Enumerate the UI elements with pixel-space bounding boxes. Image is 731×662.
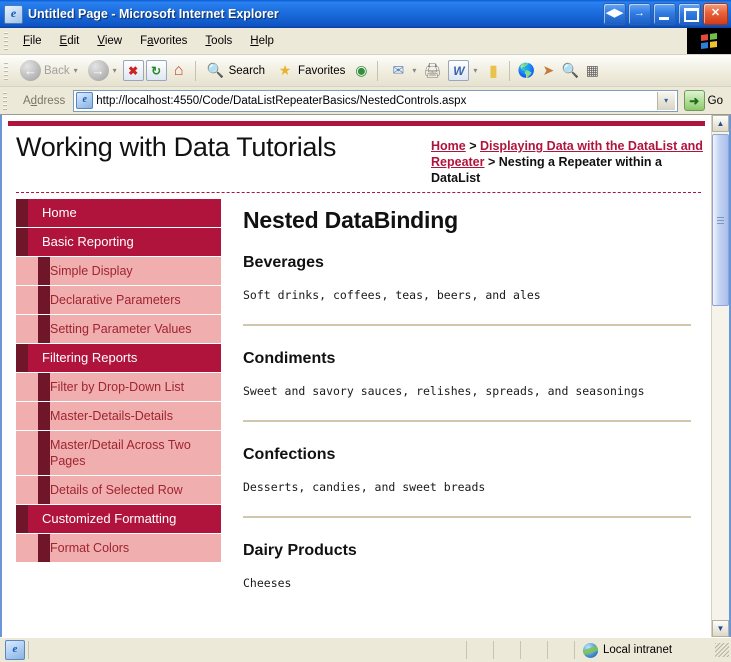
star-icon: ★ — [275, 61, 295, 81]
sidebar-label: Home — [42, 205, 77, 220]
minimize-group-icon: → — [629, 4, 650, 24]
sidebar-label: Declarative Parameters — [50, 293, 181, 307]
sidebar-label: Simple Display — [50, 264, 133, 278]
category-item: Dairy Products Cheeses — [243, 542, 691, 590]
forward-arrow-icon: → — [88, 60, 109, 81]
toolbar-grip-handle[interactable] — [4, 62, 8, 80]
mail-button[interactable]: ✉ ▾ — [384, 59, 420, 83]
status-page-icon: e — [5, 640, 25, 660]
maximize-button[interactable] — [678, 3, 701, 25]
category-item: Beverages Soft drinks, coffees, teas, be… — [243, 254, 691, 326]
sidebar-label: Customized Formatting — [42, 511, 176, 526]
breadcrumb-sep-2: > — [485, 155, 499, 169]
discuss-globe-icon[interactable]: 🌎 — [516, 61, 536, 81]
page-viewport: Working with Data Tutorials Home > Displ… — [0, 115, 731, 637]
forward-chevron-down-icon: ▾ — [113, 66, 117, 75]
search-button[interactable]: 🔍 Search — [202, 59, 269, 83]
sidebar-item-master-details-details[interactable]: Master-Details-Details — [16, 402, 221, 431]
refresh-icon[interactable]: ↻ — [146, 60, 167, 81]
menu-grip-handle[interactable] — [4, 32, 8, 50]
status-pane-3 — [520, 641, 547, 659]
menu-help[interactable]: Help — [241, 32, 283, 50]
windows-logo-icon — [687, 28, 731, 54]
category-description: Desserts, candies, and sweet breads — [243, 480, 691, 494]
scroll-up-button[interactable]: ▲ — [712, 115, 729, 132]
status-bar: e Local intranet — [0, 637, 731, 662]
print-icon[interactable]: 🖨 — [422, 61, 442, 81]
window-title: Untitled Page - Microsoft Internet Explo… — [28, 7, 603, 21]
sidebar-item-declarative-parameters[interactable]: Declarative Parameters — [16, 286, 221, 315]
notes-icon[interactable]: ▮ — [483, 61, 503, 81]
highlight-icon[interactable]: ▦ — [582, 61, 602, 81]
address-label: Address — [17, 95, 69, 107]
address-url-text: http://localhost:4550/Code/DataListRepea… — [96, 95, 653, 107]
category-name: Condiments — [243, 350, 691, 368]
mail-chevron-down-icon: ▾ — [412, 66, 416, 75]
go-arrow-icon: ➜ — [684, 90, 705, 111]
resize-grip[interactable] — [715, 643, 729, 657]
scroll-down-button[interactable]: ▼ — [712, 620, 729, 637]
sidebar-label: Master/Detail Across Two Pages — [50, 438, 191, 468]
page-icon: e — [76, 92, 93, 109]
sidebar-label: Basic Reporting — [42, 234, 134, 249]
close-icon: ✕ — [704, 4, 727, 24]
sidebar-label: Filtering Reports — [42, 350, 137, 365]
category-name: Confections — [243, 446, 691, 464]
back-chevron-down-icon: ▾ — [74, 66, 78, 75]
sidebar-label: Setting Parameter Values — [50, 322, 192, 336]
scrollbar-thumb[interactable] — [712, 134, 729, 306]
category-name: Beverages — [243, 254, 691, 272]
maximize-icon — [684, 8, 699, 22]
sidebar-item-details-of-selected-row[interactable]: Details of Selected Row — [16, 476, 221, 505]
address-bar: Address e http://localhost:4550/Code/Dat… — [0, 87, 731, 115]
search-icon: 🔍 — [206, 61, 226, 81]
edit-button[interactable]: W ▾ — [444, 58, 481, 83]
sidebar-item-format-colors[interactable]: Format Colors — [16, 534, 221, 563]
category-divider — [243, 324, 691, 326]
status-pane-1 — [466, 641, 493, 659]
sidebar-item-setting-parameter-values[interactable]: Setting Parameter Values — [16, 315, 221, 344]
sidebar-nav: Home Basic Reporting Simple Display Decl… — [2, 193, 221, 563]
category-item: Condiments Sweet and savory sauces, reli… — [243, 350, 691, 422]
ie-document-icon — [4, 5, 23, 24]
category-divider — [243, 420, 691, 422]
address-grip-handle[interactable] — [3, 92, 7, 110]
toolbar-separator-3 — [509, 61, 510, 81]
back-label: Back — [44, 65, 70, 77]
content-heading: Nested DataBinding — [243, 207, 691, 234]
toolbar-separator — [195, 61, 196, 81]
status-message — [28, 641, 466, 659]
word-editor-icon: W — [448, 60, 469, 81]
favorites-button[interactable]: ★ Favorites — [271, 59, 349, 83]
vertical-scrollbar[interactable]: ▲ ▼ — [711, 115, 729, 637]
close-button[interactable]: ✕ — [703, 3, 728, 25]
sidebar-item-customized-formatting[interactable]: Customized Formatting — [16, 505, 221, 534]
sidebar-label: Filter by Drop-Down List — [50, 380, 184, 394]
forward-button[interactable]: → ▾ — [84, 58, 121, 83]
breadcrumb-home-link[interactable]: Home — [431, 139, 466, 153]
sidebar-item-home[interactable]: Home — [16, 199, 221, 228]
browser-window: Untitled Page - Microsoft Internet Explo… — [0, 0, 731, 662]
main-content: Nested DataBinding Beverages Soft drinks… — [221, 193, 711, 612]
toolbar-separator-2 — [377, 61, 378, 81]
go-button[interactable]: ➜ Go — [682, 90, 728, 111]
navigation-toolbar: ← Back ▾ → ▾ ✖ ↻ ⌂ 🔍 Search ★ Favorites … — [0, 55, 731, 87]
window-controls: ◀▶ → ✕ — [603, 3, 728, 25]
menu-file[interactable]: File — [14, 32, 51, 50]
scrollbar-track[interactable] — [712, 132, 729, 620]
sidebar-item-filtering-reports[interactable]: Filtering Reports — [16, 344, 221, 373]
status-pane-2 — [493, 641, 520, 659]
minimize-group-button[interactable]: → — [628, 3, 651, 25]
category-description: Soft drinks, coffees, teas, beers, and a… — [243, 288, 691, 302]
security-zone[interactable]: Local intranet — [574, 641, 715, 659]
stop-icon[interactable]: ✖ — [123, 60, 144, 81]
menu-view[interactable]: View — [88, 32, 131, 50]
favorites-label: Favorites — [298, 65, 345, 77]
back-arrow-icon: ← — [20, 60, 41, 81]
menu-edit[interactable]: Edit — [51, 32, 89, 50]
research-icon[interactable]: 🔍 — [560, 61, 580, 81]
address-input[interactable]: e http://localhost:4550/Code/DataListRep… — [73, 90, 677, 112]
globe-icon — [583, 643, 598, 658]
breadcrumb: Home > Displaying Data with the DataList… — [431, 128, 703, 186]
page-title: Working with Data Tutorials — [16, 128, 431, 163]
security-zone-label: Local intranet — [603, 644, 672, 656]
media-icon[interactable]: ◉ — [351, 61, 371, 81]
address-chevron-down-icon[interactable]: ▾ — [657, 92, 675, 110]
sidebar-label: Format Colors — [50, 541, 129, 555]
breadcrumb-sep-1: > — [466, 139, 480, 153]
sidebar-item-filter-by-drop-down-list[interactable]: Filter by Drop-Down List — [16, 373, 221, 402]
search-label: Search — [229, 65, 265, 77]
page-header: Working with Data Tutorials Home > Displ… — [2, 126, 711, 186]
page-body: Home Basic Reporting Simple Display Decl… — [2, 193, 711, 612]
category-description: Sweet and savory sauces, relishes, sprea… — [243, 384, 691, 398]
category-description: Cheeses — [243, 576, 691, 590]
sidebar-item-basic-reporting[interactable]: Basic Reporting — [16, 228, 221, 257]
messenger-icon[interactable]: ➤ — [538, 61, 558, 81]
web-page: Working with Data Tutorials Home > Displ… — [2, 115, 711, 637]
category-divider — [243, 516, 691, 518]
title-bar: Untitled Page - Microsoft Internet Explo… — [0, 0, 731, 28]
menu-favorites[interactable]: Favorites — [131, 32, 196, 50]
restore-down-button[interactable]: ◀▶ — [603, 3, 626, 25]
category-name: Dairy Products — [243, 542, 691, 560]
sidebar-item-master-detail-across-two-pages[interactable]: Master/Detail Across Two Pages — [16, 431, 221, 476]
minimize-icon — [659, 17, 669, 20]
sidebar-item-simple-display[interactable]: Simple Display — [16, 257, 221, 286]
category-item: Confections Desserts, candies, and sweet… — [243, 446, 691, 518]
status-pane-4 — [547, 641, 574, 659]
sidebar-label: Master-Details-Details — [50, 409, 173, 423]
edit-chevron-down-icon: ▾ — [473, 66, 477, 75]
minimize-button[interactable] — [653, 3, 676, 25]
restore-down-icon: ◀▶ — [604, 4, 625, 24]
menu-bar: File Edit View Favorites Tools Help — [0, 28, 731, 55]
home-icon[interactable]: ⌂ — [169, 61, 189, 81]
back-button[interactable]: ← Back ▾ — [16, 58, 82, 83]
mail-icon: ✉ — [388, 61, 408, 81]
go-label: Go — [708, 95, 723, 107]
menu-tools[interactable]: Tools — [196, 32, 241, 50]
sidebar-label: Details of Selected Row — [50, 483, 183, 497]
